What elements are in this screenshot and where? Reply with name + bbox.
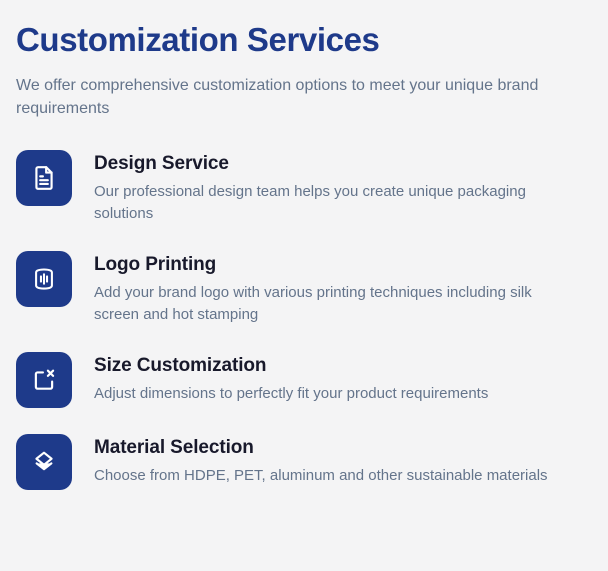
service-icon-tile [16,251,72,307]
service-item-material-selection[interactable]: Material Selection Choose from HDPE, PET… [16,434,568,490]
layers-icon [31,449,57,475]
service-icon-tile [16,150,72,206]
service-text: Logo Printing Add your brand logo with v… [94,251,568,326]
service-item-logo-printing[interactable]: Logo Printing Add your brand logo with v… [16,251,568,326]
service-text: Material Selection Choose from HDPE, PET… [94,434,568,487]
service-icon-tile [16,352,72,408]
section-subtitle: We offer comprehensive customization opt… [16,74,564,120]
logo-badge-icon [31,266,57,292]
service-description: Add your brand logo with various printin… [94,282,568,326]
service-title: Size Customization [94,353,568,378]
resize-expand-icon [31,367,57,393]
page-title: Customization Services [16,20,568,60]
service-item-size-customization[interactable]: Size Customization Adjust dimensions to … [16,352,568,408]
service-description: Choose from HDPE, PET, aluminum and othe… [94,465,568,487]
service-title: Design Service [94,151,568,176]
service-description: Adjust dimensions to perfectly fit your … [94,383,568,405]
service-title: Logo Printing [94,252,568,277]
file-text-icon [31,165,57,191]
service-icon-tile [16,434,72,490]
service-text: Size Customization Adjust dimensions to … [94,352,568,405]
services-list: Design Service Our professional design t… [16,150,568,490]
service-title: Material Selection [94,435,568,460]
customization-services-section: Customization Services We offer comprehe… [0,0,608,571]
service-description: Our professional design team helps you c… [94,181,568,225]
service-item-design-service[interactable]: Design Service Our professional design t… [16,150,568,225]
service-text: Design Service Our professional design t… [94,150,568,225]
